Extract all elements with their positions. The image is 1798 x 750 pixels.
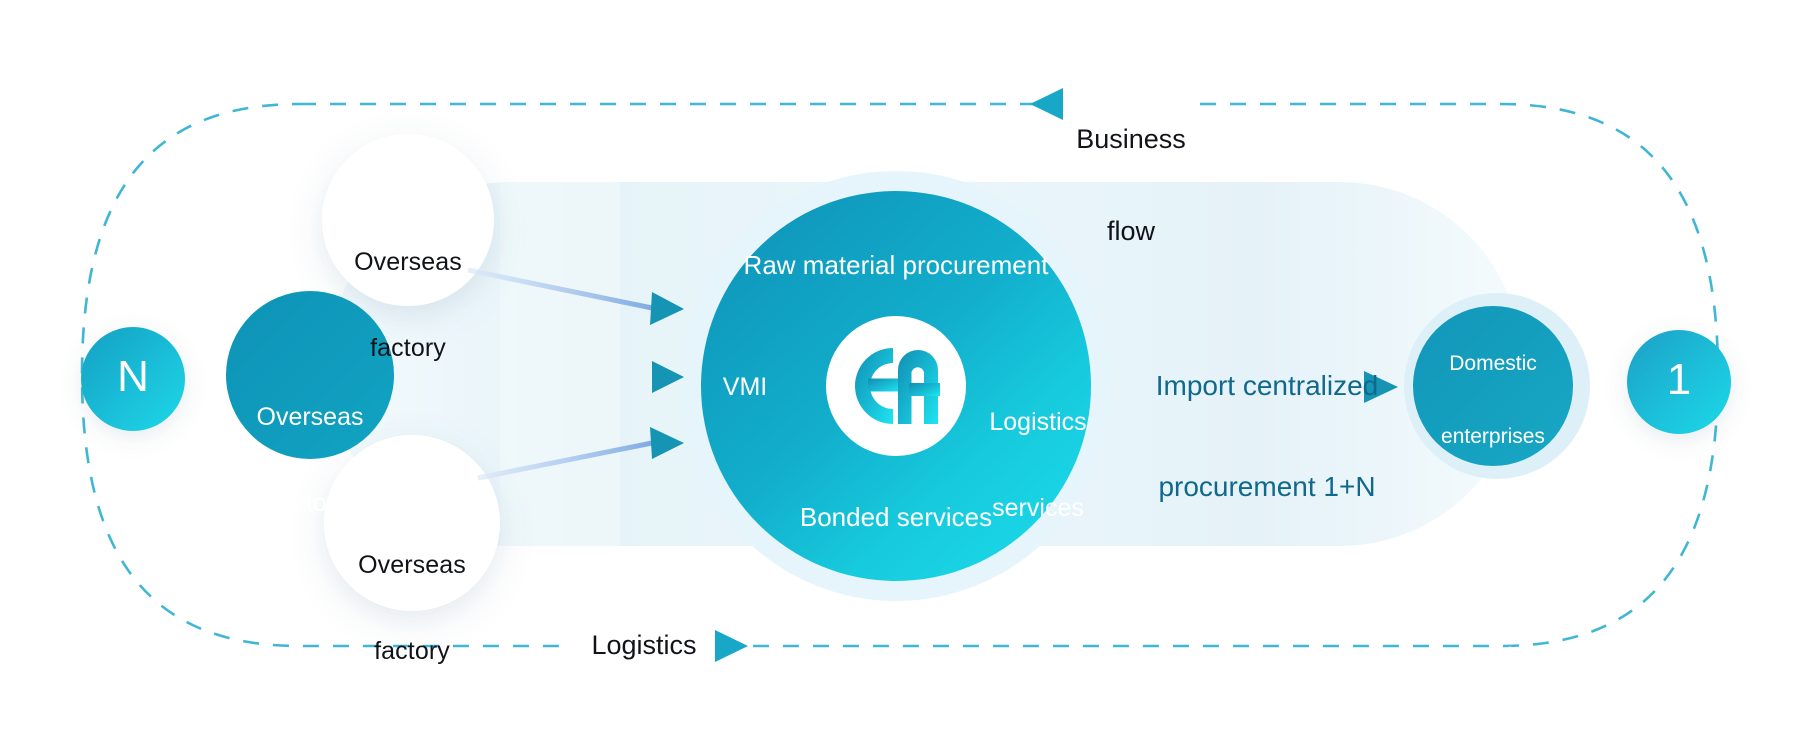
business-flow-label-line2: flow (1063, 216, 1199, 247)
domestic-enterprises-line-2: enterprises (1413, 425, 1573, 449)
one-node-label: 1 (1629, 355, 1729, 405)
import-arrow-label: Import centralized procurement 1+N (1122, 302, 1412, 571)
domestic-enterprises-line-4: production (1413, 571, 1573, 595)
overseas-factory-mid-line1: Overseas (220, 403, 400, 432)
overseas-factory-bottom-label: Overseas factory (322, 494, 502, 722)
hub-label-vmi: VMI (700, 373, 790, 402)
hub-label-logistics-services: Logistics services (968, 351, 1108, 579)
logistics-label: Logistics (578, 630, 710, 661)
hub-label-bonded-services: Bonded services (756, 503, 1036, 533)
domestic-enterprises-line-5: enterprises (1413, 644, 1573, 668)
domestic-enterprises-line-1: Domestic (1413, 352, 1573, 376)
hub-label-logistics-services-line1: Logistics (968, 408, 1108, 437)
logistics-arrowhead (715, 630, 748, 662)
n-node-label: N (83, 352, 183, 402)
diagram-canvas: Business flow Logistics N 1 Overseas fac… (0, 0, 1798, 750)
hub-label-raw-material: Raw material procurement (696, 251, 1096, 281)
import-arrow-label-line2: procurement 1+N (1122, 470, 1412, 504)
overseas-factory-top-line1: Overseas (318, 248, 498, 277)
business-flow-label-line1: Business (1063, 124, 1199, 155)
domestic-enterprises-line-3: Sales/ (1413, 498, 1573, 522)
import-arrow-label-line1: Import centralized (1122, 369, 1412, 403)
domestic-enterprises-label: Domestic enterprises Sales/ production e… (1413, 303, 1573, 717)
overseas-factory-bottom-line2: factory (322, 637, 502, 666)
overseas-factory-bottom-line1: Overseas (322, 551, 502, 580)
business-flow-arrowhead (1030, 88, 1063, 120)
